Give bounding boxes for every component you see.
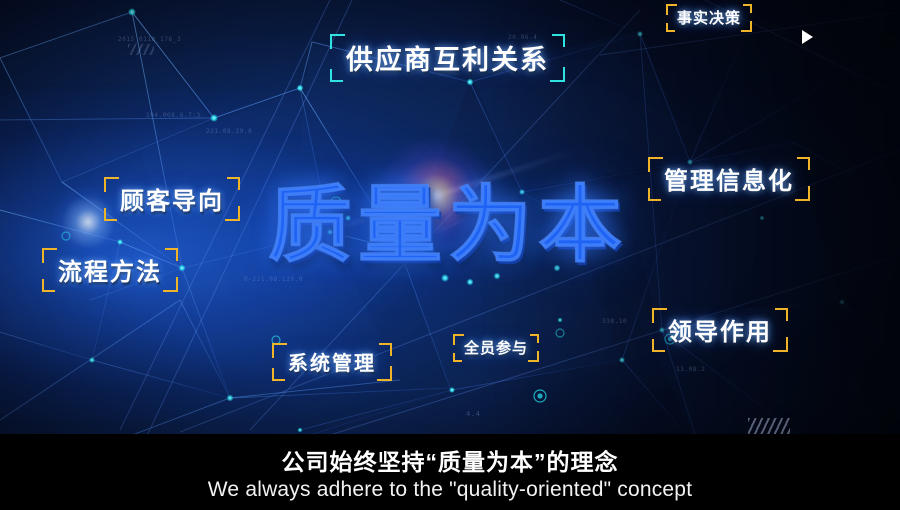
background-microtext: 221.08.29.0 bbox=[206, 128, 252, 135]
keyword-tag-fact-based-decision: 事实决策 bbox=[666, 4, 752, 32]
subtitle-english: We always adhere to the "quality-oriente… bbox=[208, 478, 692, 502]
corner-bracket-icon bbox=[743, 4, 752, 13]
keyword-tag-supplier-mutual-benefit: 供应商互利关系 bbox=[330, 34, 565, 82]
corner-bracket-icon bbox=[666, 23, 675, 32]
keyword-tag-full-participation: 全员参与 bbox=[453, 334, 539, 362]
keyword-tag-label: 系统管理 bbox=[288, 353, 376, 375]
corner-bracket-icon bbox=[530, 334, 539, 343]
corner-bracket-icon bbox=[775, 308, 788, 321]
keyword-tag-label: 领导作用 bbox=[668, 319, 772, 346]
corner-bracket-icon bbox=[552, 34, 565, 47]
hatch-decoration-right bbox=[748, 418, 790, 435]
corner-bracket-icon bbox=[797, 157, 810, 170]
keyword-tag-process-approach: 流程方法 bbox=[42, 248, 178, 292]
main-title: 质量为本 bbox=[268, 158, 628, 279]
corner-bracket-icon bbox=[648, 188, 661, 201]
video-frame: 2015_0118_176_3104.008.6.7:3221.08.29.00… bbox=[0, 0, 900, 510]
keyword-tag-label: 全员参与 bbox=[464, 340, 528, 357]
background-microtext: 338.10 bbox=[602, 318, 627, 325]
keyword-tag-label: 供应商互利关系 bbox=[346, 45, 549, 75]
play-triangle-icon[interactable] bbox=[802, 30, 813, 44]
background-microtext: 4.4 bbox=[466, 410, 480, 418]
subtitle-band: 公司始终坚持“质量为本”的理念 We always adhere to the … bbox=[0, 434, 900, 510]
corner-bracket-icon bbox=[330, 69, 343, 82]
subtitle-chinese: 公司始终坚持“质量为本”的理念 bbox=[282, 443, 619, 477]
keyword-tag-leadership-role: 领导作用 bbox=[652, 308, 788, 352]
hatch-decoration-left bbox=[128, 44, 154, 55]
corner-bracket-icon bbox=[42, 279, 55, 292]
corner-bracket-icon bbox=[272, 368, 285, 381]
corner-bracket-icon bbox=[453, 353, 462, 362]
corner-bracket-icon bbox=[104, 208, 117, 221]
keyword-tag-label: 顾客导向 bbox=[120, 188, 224, 215]
keyword-tag-label: 事实决策 bbox=[677, 10, 741, 27]
background-microtext: 104.008.6.7:3 bbox=[146, 112, 201, 119]
corner-bracket-icon bbox=[652, 339, 665, 352]
keyword-tag-management-informatization: 管理信息化 bbox=[648, 157, 810, 201]
corner-bracket-icon bbox=[379, 343, 392, 356]
keyword-tag-label: 管理信息化 bbox=[664, 168, 794, 195]
background-microtext: 2015_0118_176_3 bbox=[118, 36, 181, 43]
keyword-tag-label: 流程方法 bbox=[58, 259, 162, 286]
keyword-tag-customer-orientation: 顾客导向 bbox=[104, 177, 240, 221]
keyword-tag-systematic-management: 系统管理 bbox=[272, 343, 392, 381]
corner-bracket-icon bbox=[165, 248, 178, 261]
corner-bracket-icon bbox=[227, 177, 240, 190]
background-microtext: 13.08.2 bbox=[676, 366, 706, 373]
